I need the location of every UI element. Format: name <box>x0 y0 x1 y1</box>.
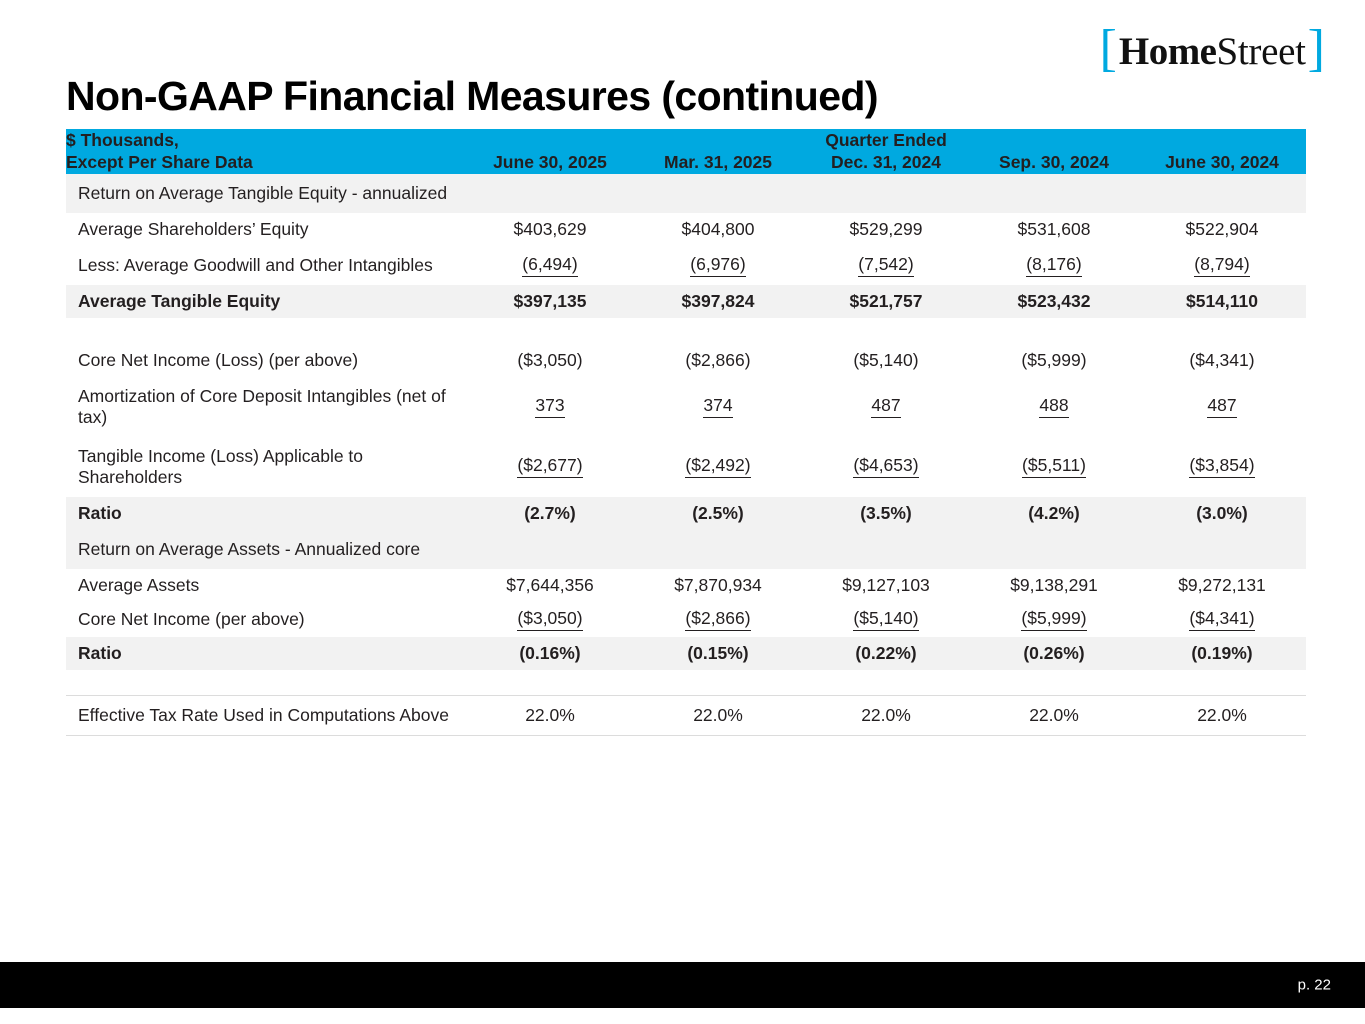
cell: (2.7%) <box>466 497 634 530</box>
row-label-ratio-roaa: Ratio <box>66 637 466 670</box>
cell <box>1138 530 1306 569</box>
cell: 22.0% <box>802 696 970 736</box>
non-gaap-table-container: $ Thousands,Except Per Share Data Quarte… <box>66 129 1306 736</box>
column-header-q1: June 30, 2025 <box>466 151 634 173</box>
cell: $397,135 <box>466 285 634 318</box>
logo-street-text: Street <box>1217 32 1308 71</box>
table-row: Return on Average Assets - Annualized co… <box>66 530 1306 569</box>
row-label-less-average-goodwill: Less: Average Goodwill and Other Intangi… <box>66 246 466 285</box>
table-row: Core Net Income (Loss) (per above) ($3,0… <box>66 344 1306 377</box>
row-label-core-net-income-per-above: Core Net Income (per above) <box>66 602 466 637</box>
page-title: Non-GAAP Financial Measures (continued) <box>66 73 878 120</box>
table-row: Average Assets $7,644,356 $7,870,934 $9,… <box>66 569 1306 602</box>
header-quarter-ended: Quarter Ended <box>466 129 1306 151</box>
column-header-q4: Sep. 30, 2024 <box>970 151 1138 173</box>
cell: ($5,999) <box>970 344 1138 377</box>
homestreet-logo: [ Home Street ] <box>1100 28 1325 74</box>
cell: (6,976) <box>634 246 802 285</box>
column-header-q2: Mar. 31, 2025 <box>634 151 802 173</box>
cell: $529,299 <box>802 213 970 246</box>
cell: 374 <box>634 377 802 437</box>
table-row: Amortization of Core Deposit Intangibles… <box>66 377 1306 437</box>
table-row: Return on Average Tangible Equity - annu… <box>66 174 1306 213</box>
table-row: Less: Average Goodwill and Other Intangi… <box>66 246 1306 285</box>
cell: (8,176) <box>970 246 1138 285</box>
table-row: Core Net Income (per above) ($3,050) ($2… <box>66 602 1306 637</box>
cell: (4.2%) <box>970 497 1138 530</box>
cell <box>802 174 970 213</box>
cell: 373 <box>466 377 634 437</box>
cell: $7,870,934 <box>634 569 802 602</box>
cell: ($2,866) <box>634 602 802 637</box>
cell <box>970 174 1138 213</box>
cell: (2.5%) <box>634 497 802 530</box>
cell: ($2,677) <box>466 437 634 497</box>
cell: (6,494) <box>466 246 634 285</box>
row-label-core-net-income-loss: Core Net Income (Loss) (per above) <box>66 344 466 377</box>
cell: ($5,140) <box>802 602 970 637</box>
cell: ($5,999) <box>970 602 1138 637</box>
table-header-row-group: $ Thousands,Except Per Share Data Quarte… <box>66 129 1306 151</box>
cell: (0.22%) <box>802 637 970 670</box>
cell: $523,432 <box>970 285 1138 318</box>
row-label-ratio-roate: Ratio <box>66 497 466 530</box>
row-label-roate-section: Return on Average Tangible Equity - annu… <box>66 174 466 213</box>
table-row: Average Shareholders’ Equity $403,629 $4… <box>66 213 1306 246</box>
footer-bar: p. 22 <box>0 962 1365 1008</box>
cell: 22.0% <box>466 696 634 736</box>
cell: 487 <box>1138 377 1306 437</box>
cell: $7,644,356 <box>466 569 634 602</box>
row-label-effective-tax-rate: Effective Tax Rate Used in Computations … <box>66 696 466 736</box>
cell <box>466 174 634 213</box>
row-label-tangible-income-applicable: Tangible Income (Loss) Applicable to Sha… <box>66 437 466 497</box>
logo-home-text: Home <box>1117 32 1217 71</box>
row-label-roaa-section: Return on Average Assets - Annualized co… <box>66 530 466 569</box>
cell: (3.5%) <box>802 497 970 530</box>
cell: $522,904 <box>1138 213 1306 246</box>
cell: $9,127,103 <box>802 569 970 602</box>
table-row: Average Tangible Equity $397,135 $397,82… <box>66 285 1306 318</box>
cell <box>1138 174 1306 213</box>
cell: (8,794) <box>1138 246 1306 285</box>
cell: $514,110 <box>1138 285 1306 318</box>
page-number: p. 22 <box>1298 977 1331 994</box>
logo-bracket-right-icon: ] <box>1308 26 1325 73</box>
header-units-line1: $ Thousands, <box>66 130 179 150</box>
cell: ($4,653) <box>802 437 970 497</box>
cell: ($2,866) <box>634 344 802 377</box>
cell: 22.0% <box>970 696 1138 736</box>
row-label-amortization-core-deposit-intangibles: Amortization of Core Deposit Intangibles… <box>66 377 466 437</box>
row-label-average-assets: Average Assets <box>66 569 466 602</box>
cell: 22.0% <box>1138 696 1306 736</box>
table-spacer-row <box>66 318 1306 344</box>
cell: (7,542) <box>802 246 970 285</box>
cell: 488 <box>970 377 1138 437</box>
cell: ($4,341) <box>1138 602 1306 637</box>
cell: ($5,511) <box>970 437 1138 497</box>
cell: ($3,050) <box>466 602 634 637</box>
cell <box>634 174 802 213</box>
cell <box>970 530 1138 569</box>
cell <box>466 530 634 569</box>
cell: ($2,492) <box>634 437 802 497</box>
cell: (0.26%) <box>970 637 1138 670</box>
table-row: Tangible Income (Loss) Applicable to Sha… <box>66 437 1306 497</box>
cell: $397,824 <box>634 285 802 318</box>
header-units-line2: Except Per Share Data <box>66 152 253 172</box>
cell: $403,629 <box>466 213 634 246</box>
row-label-average-shareholders-equity: Average Shareholders’ Equity <box>66 213 466 246</box>
column-header-q3: Dec. 31, 2024 <box>802 151 970 173</box>
table-row: Ratio (0.16%) (0.15%) (0.22%) (0.26%) (0… <box>66 637 1306 670</box>
cell: $521,757 <box>802 285 970 318</box>
cell: ($5,140) <box>802 344 970 377</box>
slide: [ Home Street ] Non-GAAP Financial Measu… <box>0 0 1365 1024</box>
cell: $9,272,131 <box>1138 569 1306 602</box>
cell: ($3,050) <box>466 344 634 377</box>
table-spacer-row <box>66 670 1306 696</box>
cell: (0.15%) <box>634 637 802 670</box>
cell: (0.16%) <box>466 637 634 670</box>
cell <box>802 530 970 569</box>
table-body: Return on Average Tangible Equity - annu… <box>66 174 1306 736</box>
cell: $9,138,291 <box>970 569 1138 602</box>
cell: 22.0% <box>634 696 802 736</box>
table-header: $ Thousands,Except Per Share Data Quarte… <box>66 129 1306 174</box>
cell: ($3,854) <box>1138 437 1306 497</box>
cell: $404,800 <box>634 213 802 246</box>
column-header-q5: June 30, 2024 <box>1138 151 1306 173</box>
cell: 487 <box>802 377 970 437</box>
row-label-average-tangible-equity: Average Tangible Equity <box>66 285 466 318</box>
table-row: Ratio (2.7%) (2.5%) (3.5%) (4.2%) (3.0%) <box>66 497 1306 530</box>
cell <box>634 530 802 569</box>
logo-bracket-left-icon: [ <box>1100 26 1117 73</box>
cell: (0.19%) <box>1138 637 1306 670</box>
cell: $531,608 <box>970 213 1138 246</box>
header-units-cell: $ Thousands,Except Per Share Data <box>66 129 466 174</box>
non-gaap-table: $ Thousands,Except Per Share Data Quarte… <box>66 129 1306 736</box>
cell: (3.0%) <box>1138 497 1306 530</box>
table-row: Effective Tax Rate Used in Computations … <box>66 696 1306 736</box>
cell: ($4,341) <box>1138 344 1306 377</box>
